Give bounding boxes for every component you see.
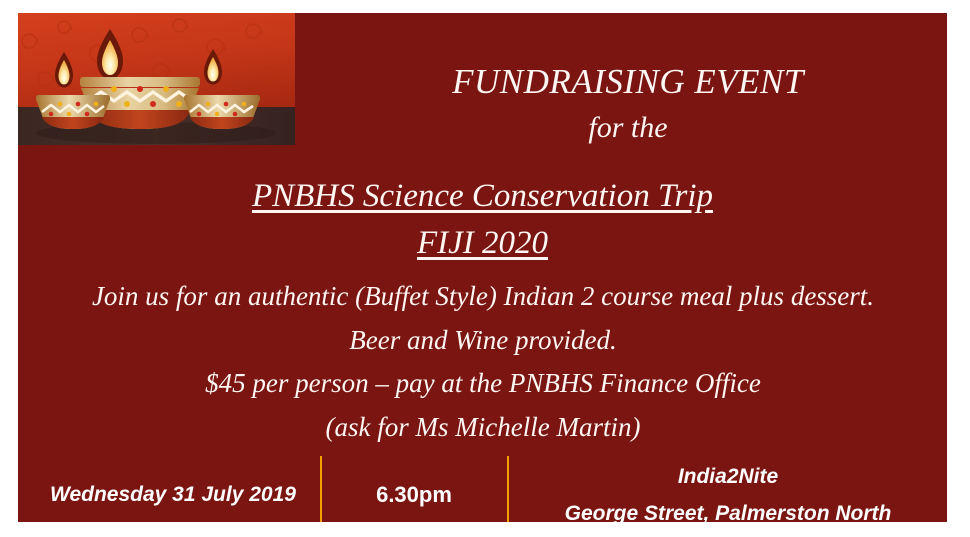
- poster-footer: Wednesday 31 July 2019 6.30pm India2Nite…: [18, 441, 947, 522]
- poster-subtitle-secondary: FIJI 2020: [36, 220, 929, 268]
- footer-time-cell: 6.30pm: [322, 456, 506, 522]
- footer-venue-cell: India2Nite George Street, Palmerston Nor…: [509, 456, 947, 522]
- poster-panel: FUNDRAISING EVENT for the PNBHS Science …: [18, 13, 947, 522]
- subtitle-block: PNBHS Science Conservation Trip FIJI 202…: [36, 173, 929, 268]
- body-line-price: $45 per person – pay at the PNBHS Financ…: [28, 362, 938, 406]
- poster-body: Join us for an authentic (Buffet Style) …: [28, 275, 938, 450]
- event-date: Wednesday 31 July 2019: [50, 477, 296, 514]
- diwali-diya-lamps-image: [18, 13, 295, 145]
- footer-date-cell: Wednesday 31 July 2019: [28, 456, 318, 522]
- body-line-meal: Join us for an authentic (Buffet Style) …: [28, 275, 938, 319]
- venue-address: George Street, Palmerston North: [565, 496, 892, 523]
- headline-block: FUNDRAISING EVENT for the: [318, 60, 938, 150]
- poster-title: FUNDRAISING EVENT: [318, 60, 938, 105]
- poster-connector: for the: [318, 105, 938, 150]
- event-time: 6.30pm: [376, 476, 452, 515]
- event-poster: FUNDRAISING EVENT for the PNBHS Science …: [0, 0, 970, 537]
- venue-name: India2Nite: [678, 459, 778, 496]
- body-line-drinks: Beer and Wine provided.: [28, 319, 938, 363]
- poster-subtitle: PNBHS Science Conservation Trip: [36, 173, 929, 220]
